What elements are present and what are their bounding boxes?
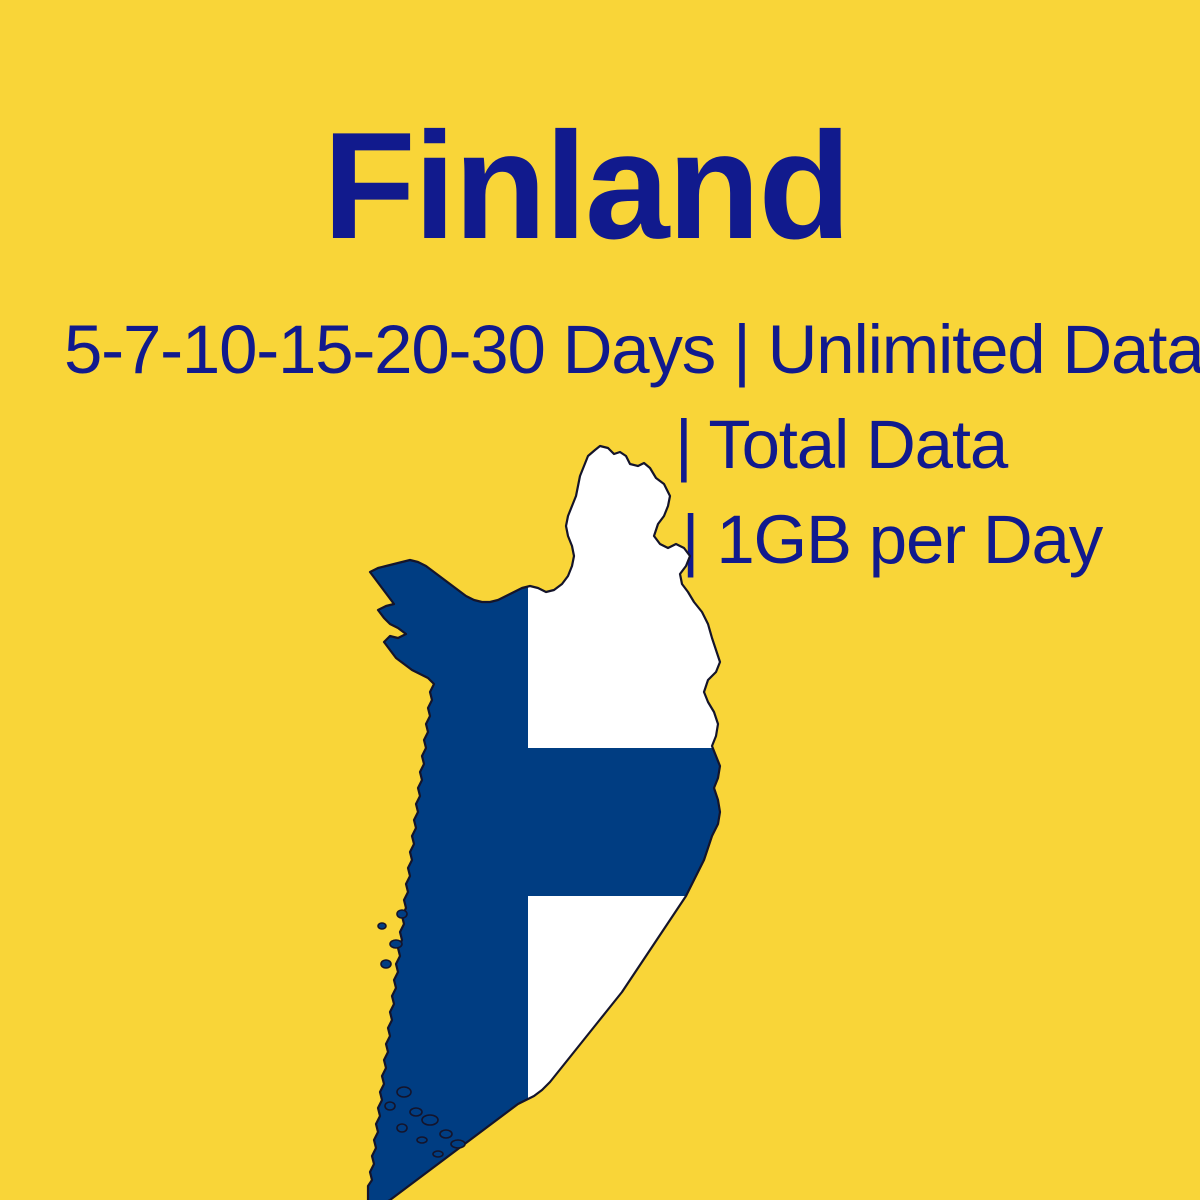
finland-map-icon bbox=[368, 444, 736, 1200]
page-title: Finland bbox=[0, 110, 1172, 262]
flag-cross-lower-vertical bbox=[328, 896, 528, 1200]
finland-map bbox=[368, 444, 736, 1200]
plan-summary-line-1: 5-7-10-15-20-30 Days | Unlimited Data bbox=[64, 302, 1154, 397]
country-plan-card: Finland 5-7-10-15-20-30 Days | Unlimited… bbox=[0, 0, 1200, 1200]
